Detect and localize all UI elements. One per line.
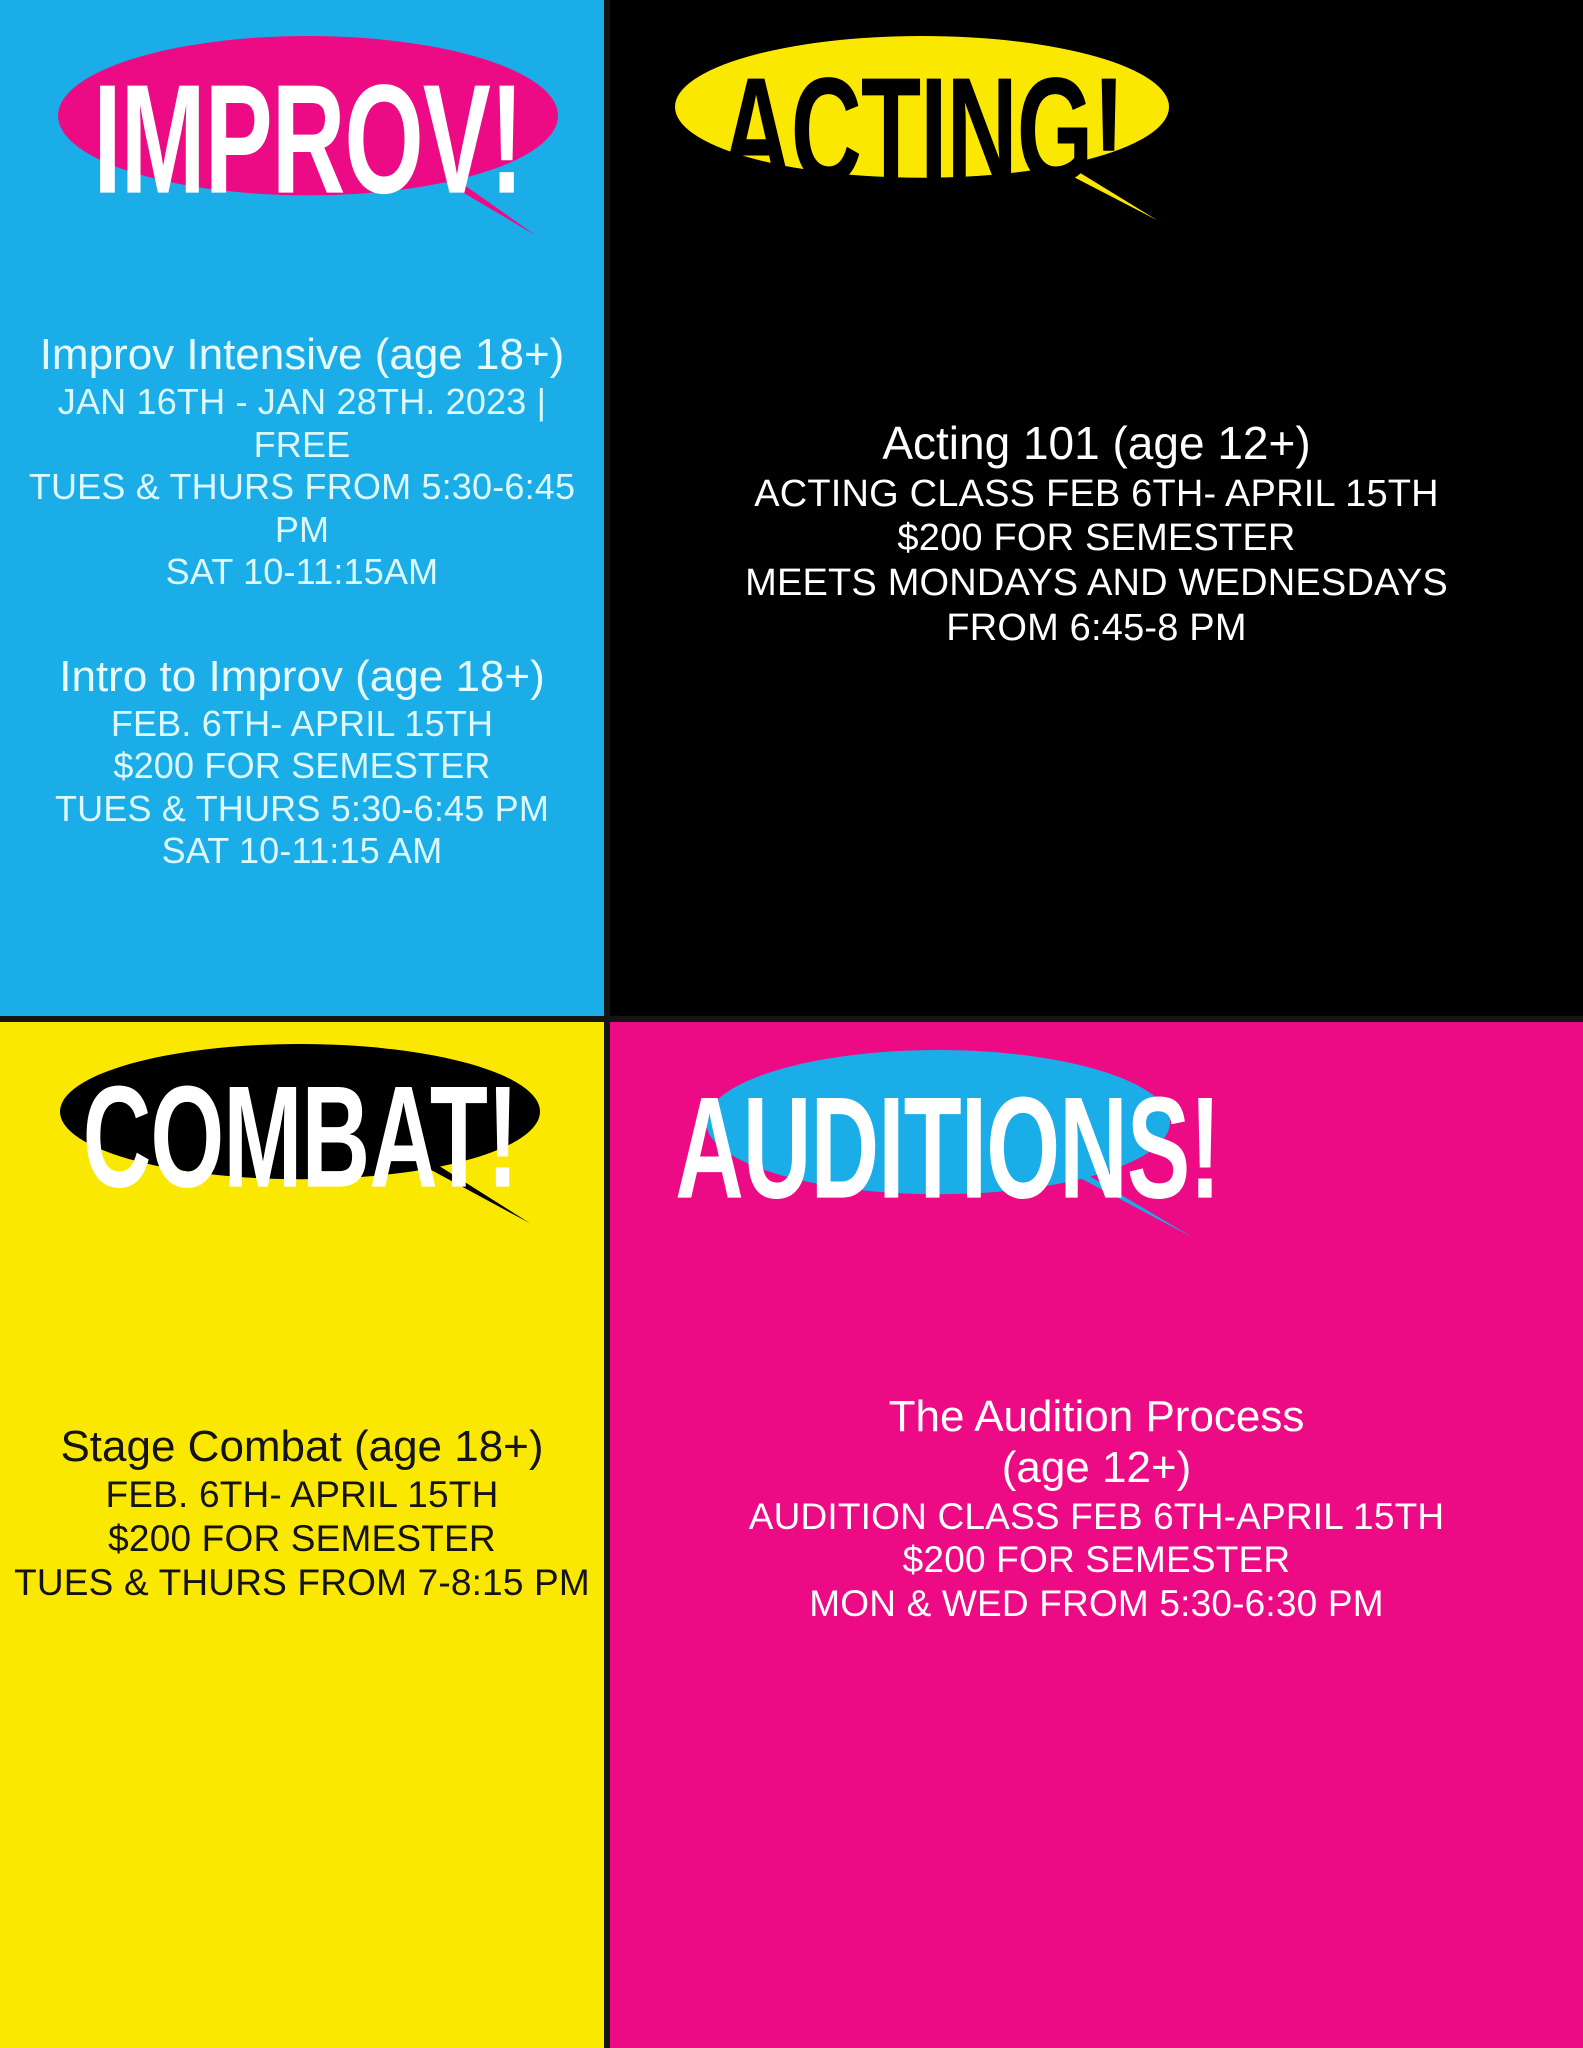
acting-bubble-label: ACTING! [721, 56, 1125, 206]
combat-class-0-line-2: TUES & THURS FROM 7-8:15 PM [8, 1561, 596, 1605]
combat-bubble-label: COMBAT! [83, 1064, 518, 1209]
auditions-class-0-line-2: MON & WED FROM 5:30-6:30 PM [635, 1582, 1558, 1626]
improv-speech-bubble: IMPROV! [58, 36, 558, 241]
panel-improv: IMPROV! Improv Intensive (age 18+) JAN 1… [0, 0, 604, 1016]
improv-class-1-line-3: SAT 10-11:15 AM [10, 830, 594, 872]
class-schedule-poster: IMPROV! Improv Intensive (age 18+) JAN 1… [0, 0, 1583, 2048]
acting-class-0-line-2: MEETS MONDAYS AND WEDNESDAYS [640, 561, 1553, 606]
improv-class-0-line-2: SAT 10-11:15AM [10, 551, 594, 593]
auditions-class-0-line-0: AUDITION CLASS FEB 6TH-APRIL 15TH [635, 1495, 1558, 1539]
improv-class-1-line-2: TUES & THURS 5:30-6:45 PM [10, 788, 594, 830]
panel-combat: COMBAT! Stage Combat (age 18+) FEB. 6TH-… [0, 1022, 604, 2048]
panel-acting: ACTING! Acting 101 (age 12+) ACTING CLAS… [610, 0, 1583, 1016]
combat-class-0-line-0: FEB. 6TH- APRIL 15TH [8, 1473, 596, 1517]
combat-class-0-line-1: $200 FOR SEMESTER [8, 1517, 596, 1561]
acting-class-0-line-3: FROM 6:45-8 PM [640, 606, 1553, 651]
acting-speech-bubble: ACTING! [675, 36, 1170, 226]
combat-speech-bubble: COMBAT! [60, 1044, 540, 1229]
auditions-speech-bubble: AUDITIONS! [688, 1050, 1208, 1245]
improv-block-spacer [10, 594, 594, 652]
improv-class-1-title: Intro to Improv (age 18+) [10, 652, 594, 701]
improv-class-list: Improv Intensive (age 18+) JAN 16TH - JA… [10, 330, 594, 873]
panel-auditions: AUDITIONS! The Audition Process (age 12+… [610, 1022, 1583, 2048]
auditions-class-0-title-line-2: (age 12+) [635, 1443, 1558, 1492]
improv-class-0-line-0: JAN 16TH - JAN 28TH. 2023 | FREE [10, 381, 594, 466]
auditions-bubble-label: AUDITIONS! [676, 1075, 1221, 1220]
improv-bubble-label: IMPROV! [93, 61, 523, 216]
auditions-class-0-line-1: $200 FOR SEMESTER [635, 1538, 1558, 1582]
improv-class-1-line-0: FEB. 6TH- APRIL 15TH [10, 703, 594, 745]
auditions-class-list: The Audition Process (age 12+) AUDITION … [635, 1392, 1558, 1626]
combat-class-list: Stage Combat (age 18+) FEB. 6TH- APRIL 1… [8, 1422, 596, 1604]
improv-class-0-title: Improv Intensive (age 18+) [10, 330, 594, 379]
acting-class-list: Acting 101 (age 12+) ACTING CLASS FEB 6T… [640, 418, 1553, 651]
acting-class-0-line-0: ACTING CLASS FEB 6TH- APRIL 15TH [640, 472, 1553, 517]
horizontal-divider [0, 1016, 1583, 1022]
auditions-class-0-title-line-1: The Audition Process [635, 1392, 1558, 1441]
acting-class-0-title: Acting 101 (age 12+) [640, 418, 1553, 470]
vertical-divider [604, 0, 610, 2048]
acting-class-0-line-1: $200 FOR SEMESTER [640, 516, 1553, 561]
combat-class-0-title: Stage Combat (age 18+) [8, 1422, 596, 1471]
improv-class-0-line-1: TUES & THURS FROM 5:30-6:45 PM [10, 466, 594, 551]
improv-class-1-line-1: $200 FOR SEMESTER [10, 745, 594, 787]
